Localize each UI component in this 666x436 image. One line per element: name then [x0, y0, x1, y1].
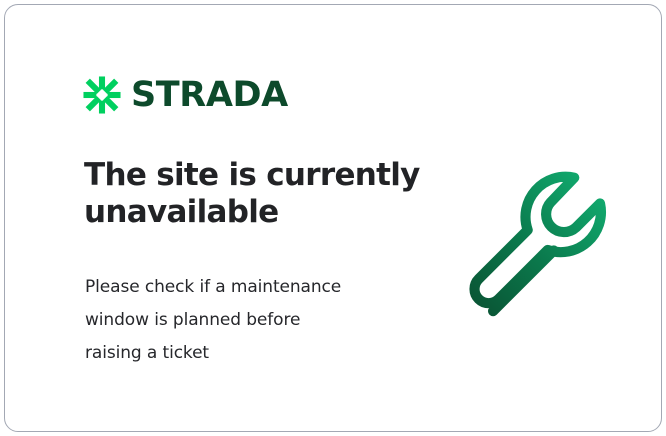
status-card: STRADA The site is currently unavailable… [4, 4, 662, 432]
page-title: The site is currently unavailable [84, 157, 424, 230]
brand-lockup: STRADA [83, 76, 288, 114]
description-line: window is planned before [85, 304, 395, 337]
page-root: STRADA The site is currently unavailable… [0, 0, 666, 436]
brand-wordmark: STRADA [131, 78, 288, 113]
wrench-icon [457, 157, 621, 321]
description-line: raising a ticket [85, 337, 395, 370]
strada-asterisk-icon [83, 76, 121, 114]
description-line: Please check if a maintenance [85, 271, 395, 304]
page-description: Please check if a maintenance window is … [85, 271, 395, 370]
